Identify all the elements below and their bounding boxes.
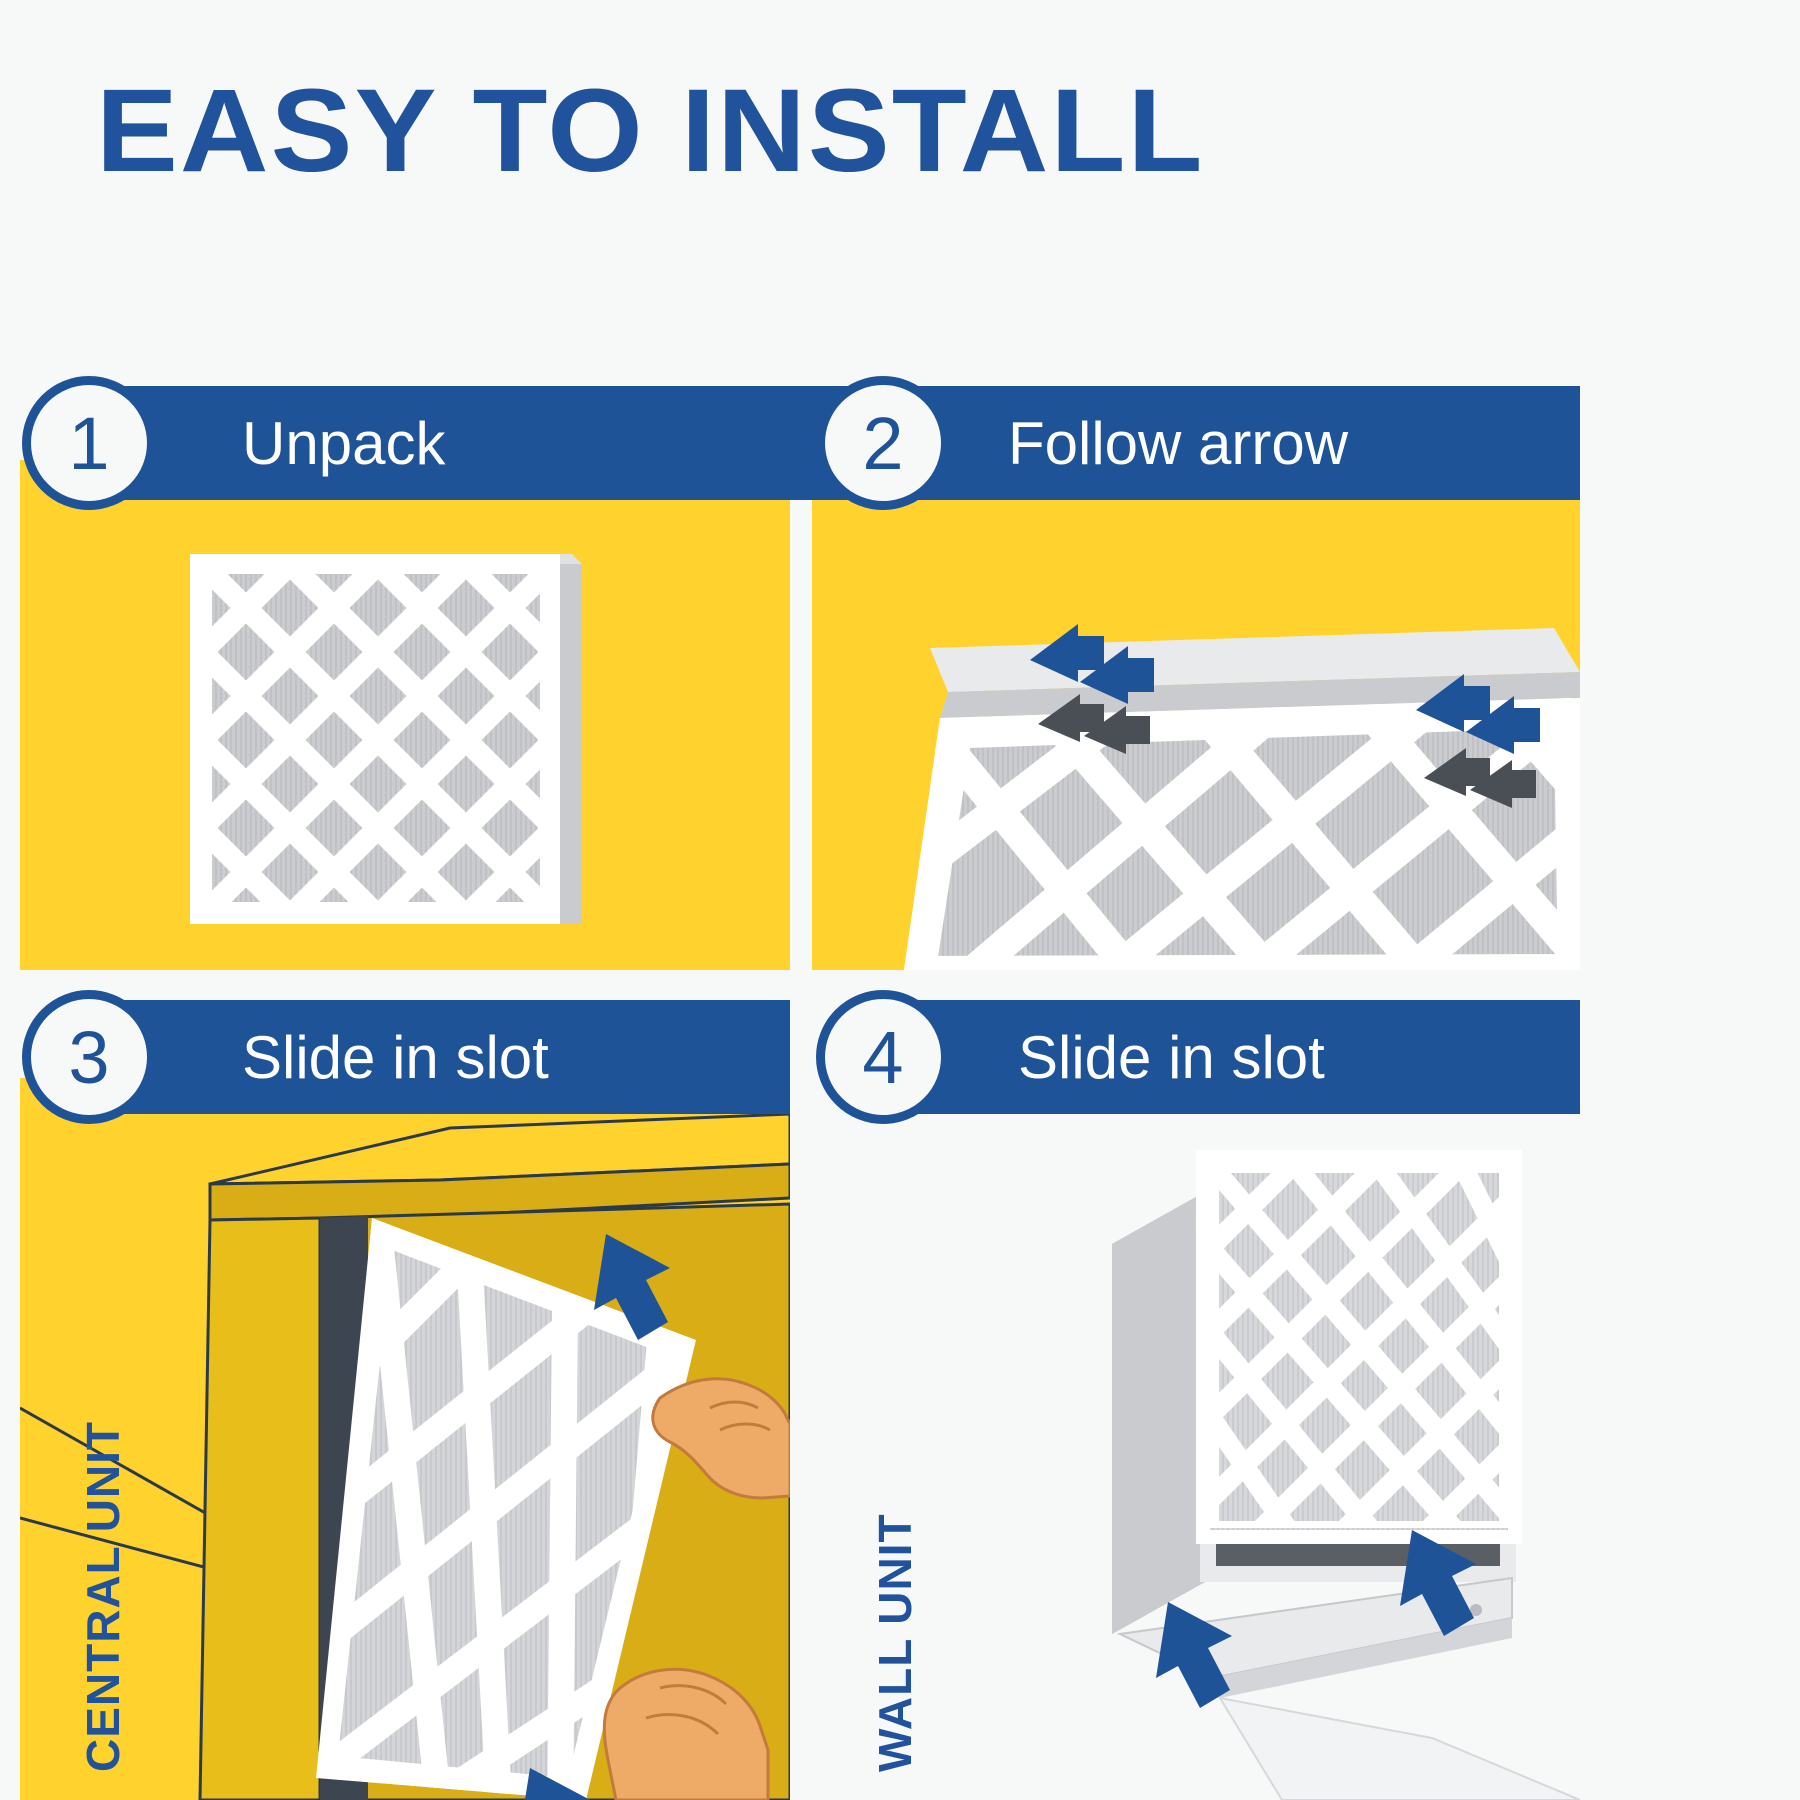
- step-4-illustration: [812, 1078, 1580, 1800]
- step-4-panel: [812, 1078, 1580, 1800]
- step-1-header-bar: Unpack: [110, 386, 790, 500]
- wall-unit-scene-svg: [812, 1078, 1580, 1800]
- step-3-illustration: [20, 1078, 790, 1800]
- step-1-illustration: [20, 460, 790, 970]
- step-2-panel: [812, 460, 1580, 970]
- filter-side-depth: [560, 564, 582, 924]
- tilted-filter-svg: [812, 460, 1580, 970]
- step-2-illustration: [812, 460, 1580, 970]
- step-1-number-badge: 1: [22, 376, 156, 510]
- flat-filter-svg: [20, 460, 790, 970]
- step-3-panel: [20, 1078, 790, 1800]
- central-unit-scene-svg: [20, 1078, 790, 1800]
- central-unit-vertical-label: CENTRAL UNIT: [76, 1421, 130, 1772]
- step-2-number-badge: 2: [816, 376, 950, 510]
- wall-unit-vertical-label: WALL UNIT: [868, 1513, 922, 1772]
- step-1-label: Unpack: [242, 409, 445, 478]
- infographic-root: EASY TO INSTALL: [0, 0, 1800, 1800]
- step-3-label: Slide in slot: [242, 1023, 549, 1092]
- step-4-header-bar: Slide in slot: [902, 1000, 1580, 1114]
- step-2-label: Follow arrow: [1008, 409, 1348, 478]
- page-title: EASY TO INSTALL: [96, 72, 1205, 190]
- unit-left-face: [200, 1218, 320, 1800]
- step-1-panel: [20, 460, 790, 970]
- step-4-number-badge: 4: [816, 990, 950, 1124]
- step-3-number-badge: 3: [22, 990, 156, 1124]
- vent-door-open: [1220, 1698, 1580, 1800]
- step-3-header-bar: Slide in slot: [110, 1000, 790, 1114]
- step-4-label: Slide in slot: [1018, 1023, 1325, 1092]
